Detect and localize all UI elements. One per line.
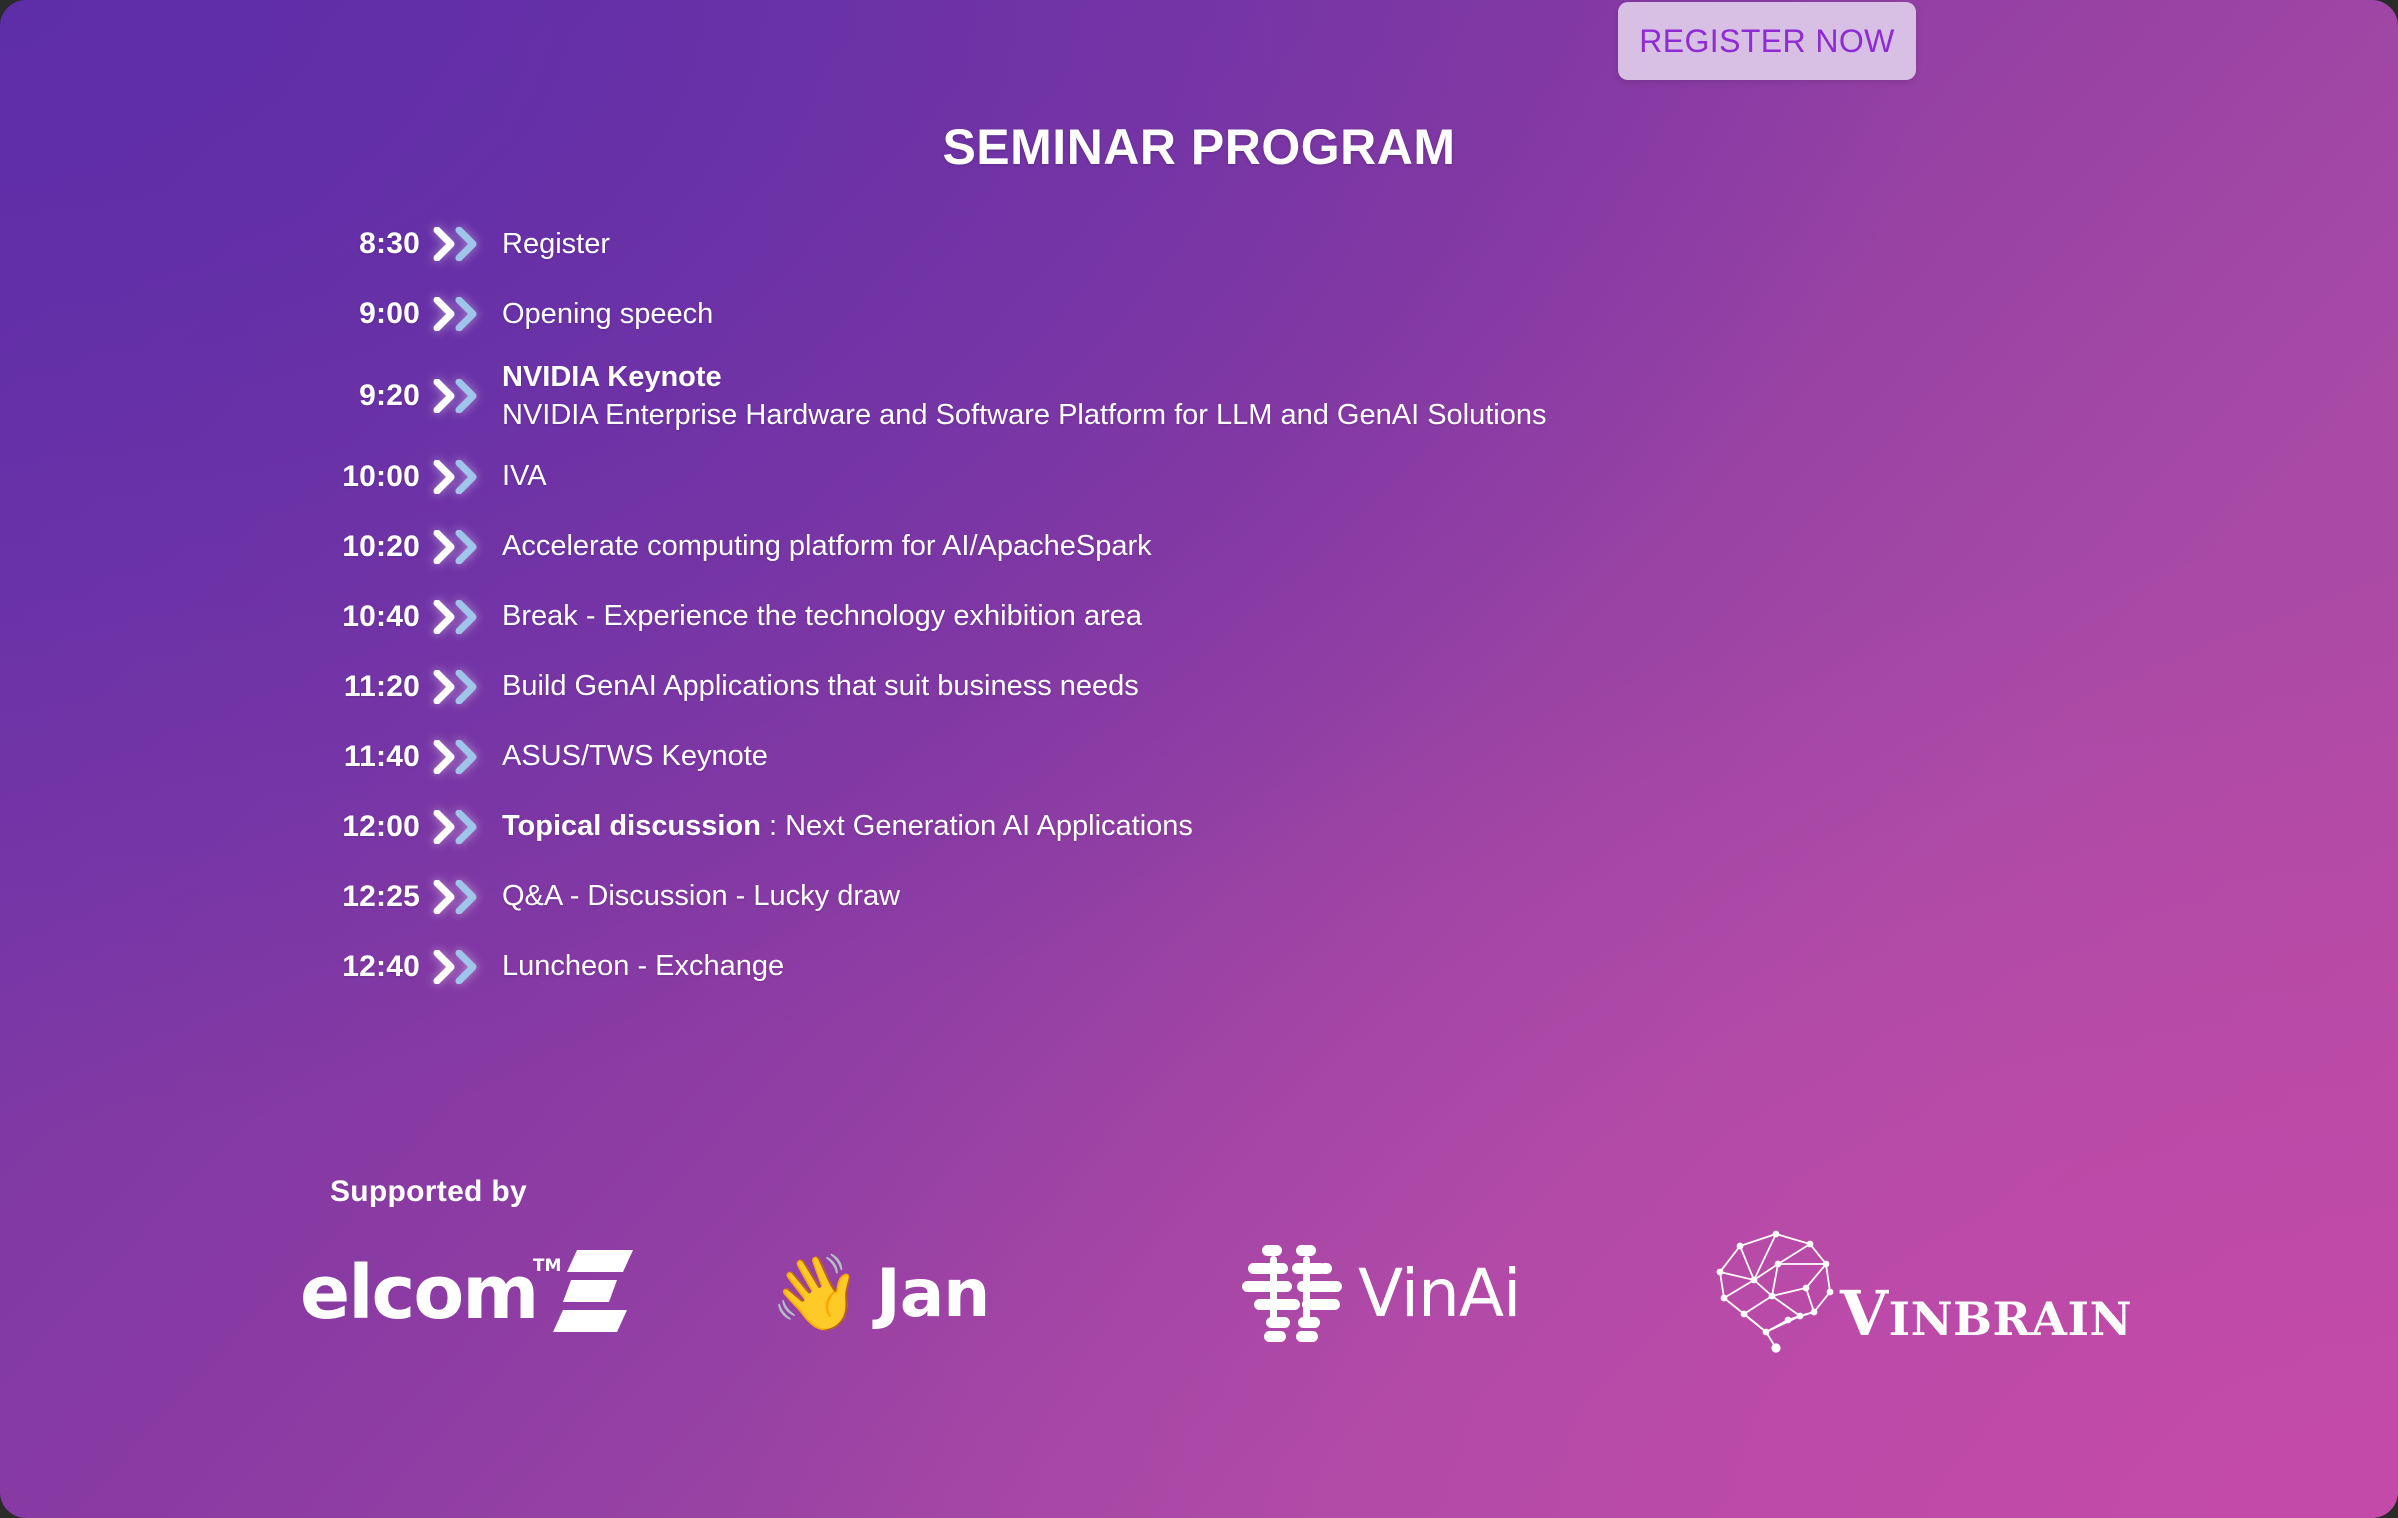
schedule-time: 10:20 xyxy=(250,530,420,564)
vinbrain-brain-network-icon xyxy=(1710,1228,1860,1359)
schedule-title-rest: : Next Generation AI Applications xyxy=(761,810,1193,842)
double-chevron-icon xyxy=(420,297,502,331)
double-chevron-icon xyxy=(420,600,502,634)
schedule-title: Luncheon - Exchange xyxy=(502,947,2150,985)
double-chevron-icon xyxy=(420,530,502,564)
vinbrain-wordmark: VINBRAIN xyxy=(1840,1277,2132,1350)
schedule-row: 10:00 IVA xyxy=(250,451,2150,503)
schedule-list: 8:30 Register 9:00 Opening speech 9:20 N… xyxy=(250,218,2150,1011)
schedule-row: 12:00 Topical discussion : Next Generati… xyxy=(250,801,2150,853)
schedule-time: 12:40 xyxy=(250,950,420,984)
schedule-time: 8:30 xyxy=(250,227,420,261)
schedule-row: 10:40 Break - Experience the technology … xyxy=(250,591,2150,643)
schedule-time: 12:25 xyxy=(250,880,420,914)
schedule-title: Register xyxy=(502,225,2150,263)
page-title: SEMINAR PROGRAM xyxy=(0,118,2398,176)
schedule-row: 12:40 Luncheon - Exchange xyxy=(250,941,2150,993)
waving-hand-icon: 👋 xyxy=(770,1256,862,1330)
schedule-time: 9:00 xyxy=(250,297,420,331)
schedule-title: Opening speech xyxy=(502,295,2150,333)
schedule-time: 11:40 xyxy=(250,740,420,774)
schedule-title: IVA xyxy=(502,457,2150,495)
schedule-row: 9:00 Opening speech xyxy=(250,288,2150,340)
schedule-time: 12:00 xyxy=(250,810,420,844)
schedule-row: 11:20 Build GenAI Applications that suit… xyxy=(250,661,2150,713)
double-chevron-icon xyxy=(420,740,502,774)
schedule-title: NVIDIA Keynote xyxy=(502,361,722,393)
sponsor-logos: elcomTM 👋 Jan xyxy=(300,1228,2180,1358)
schedule-title: Break - Experience the technology exhibi… xyxy=(502,597,2150,635)
schedule-row: 9:20 NVIDIA Keynote NVIDIA Enterprise Ha… xyxy=(250,358,2150,435)
elcom-word-text: elcom xyxy=(300,1250,537,1336)
schedule-time: 9:20 xyxy=(250,379,420,413)
double-chevron-icon xyxy=(420,880,502,914)
schedule-title: ASUS/TWS Keynote xyxy=(502,737,2150,775)
double-chevron-icon xyxy=(420,379,502,413)
trademark-symbol: TM xyxy=(533,1258,562,1275)
schedule-row: 8:30 Register xyxy=(250,218,2150,270)
schedule-title: Q&A - Discussion - Lucky draw xyxy=(502,877,2150,915)
elcom-wordmark: elcomTM xyxy=(300,1256,537,1330)
schedule-subtitle: NVIDIA Enterprise Hardware and Software … xyxy=(502,396,2150,434)
schedule-time: 11:20 xyxy=(250,670,420,704)
elcom-e-mark-icon xyxy=(551,1248,635,1339)
vinai-circuit-icon xyxy=(1240,1239,1344,1348)
schedule-entry: NVIDIA Keynote NVIDIA Enterprise Hardwar… xyxy=(502,358,2150,435)
seminar-program-page: REGISTER NOW SEMINAR PROGRAM 8:30 Regist… xyxy=(0,0,2398,1518)
supported-by-label: Supported by xyxy=(330,1175,527,1209)
schedule-title: Topical discussion xyxy=(502,810,761,842)
sponsor-logo-vinai: VinAi xyxy=(1240,1228,1710,1358)
schedule-title: Accelerate computing platform for AI/Apa… xyxy=(502,527,2150,565)
schedule-row: 10:20 Accelerate computing platform for … xyxy=(250,521,2150,573)
sponsor-logo-elcom: elcomTM xyxy=(300,1228,770,1358)
double-chevron-icon xyxy=(420,810,502,844)
double-chevron-icon xyxy=(420,670,502,704)
jan-wordmark: Jan xyxy=(876,1255,989,1332)
vinbrain-word-cap: V xyxy=(1840,1277,1889,1350)
schedule-time: 10:40 xyxy=(250,600,420,634)
schedule-time: 10:00 xyxy=(250,460,420,494)
schedule-entry: Topical discussion : Next Generation AI … xyxy=(502,807,2150,845)
schedule-row: 12:25 Q&A - Discussion - Lucky draw xyxy=(250,871,2150,923)
double-chevron-icon xyxy=(420,950,502,984)
schedule-title: Build GenAI Applications that suit busin… xyxy=(502,667,2150,705)
sponsor-logo-jan: 👋 Jan xyxy=(770,1228,1240,1358)
vinai-wordmark: VinAi xyxy=(1358,1255,1520,1332)
sponsor-logo-vinbrain: VINBRAIN xyxy=(1710,1228,2180,1358)
vinbrain-word-rest: INBRAIN xyxy=(1889,1292,2132,1346)
schedule-row: 11:40 ASUS/TWS Keynote xyxy=(250,731,2150,783)
double-chevron-icon xyxy=(420,460,502,494)
register-now-button[interactable]: REGISTER NOW xyxy=(1618,2,1916,80)
double-chevron-icon xyxy=(420,227,502,261)
